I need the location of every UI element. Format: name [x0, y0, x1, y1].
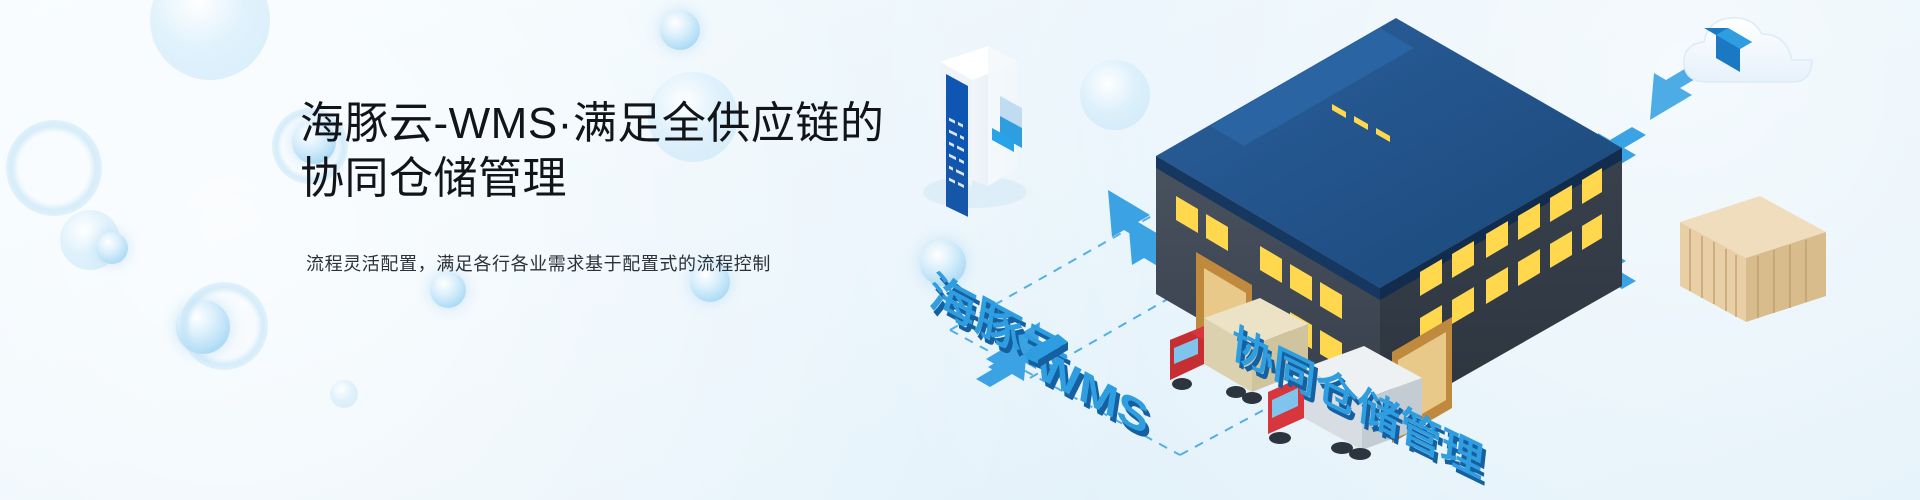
page-subtitle: 流程灵活配置，满足各行各业需求基于配置式的流程控制	[306, 251, 920, 278]
bokeh-circle	[660, 10, 700, 50]
bokeh-circle	[6, 120, 102, 216]
hero-copy-block: 海豚云-WMS·满足全供应链的 协同仓储管理 流程灵活配置，满足各行各业需求基于…	[300, 96, 920, 278]
cloud-upload-icon	[1684, 18, 1812, 82]
server-rack-icon	[923, 46, 1027, 217]
shipping-container-icon	[1680, 196, 1826, 322]
bokeh-circle	[330, 380, 358, 408]
bokeh-circle	[176, 300, 230, 354]
bokeh-circle	[180, 282, 268, 370]
bokeh-circle	[60, 210, 120, 270]
page-title: 海豚云-WMS·满足全供应链的 协同仓储管理	[300, 96, 920, 207]
bokeh-circle	[96, 232, 128, 264]
hero-banner: 海豚云-WMS·满足全供应链的 协同仓储管理 流程灵活配置，满足各行各业需求基于…	[0, 0, 1920, 500]
hero-illustration: 海豚云 海豚云 WMS WMS 协同仓储管理 协同仓储管理	[880, 0, 1920, 500]
bokeh-circle	[150, 0, 270, 80]
